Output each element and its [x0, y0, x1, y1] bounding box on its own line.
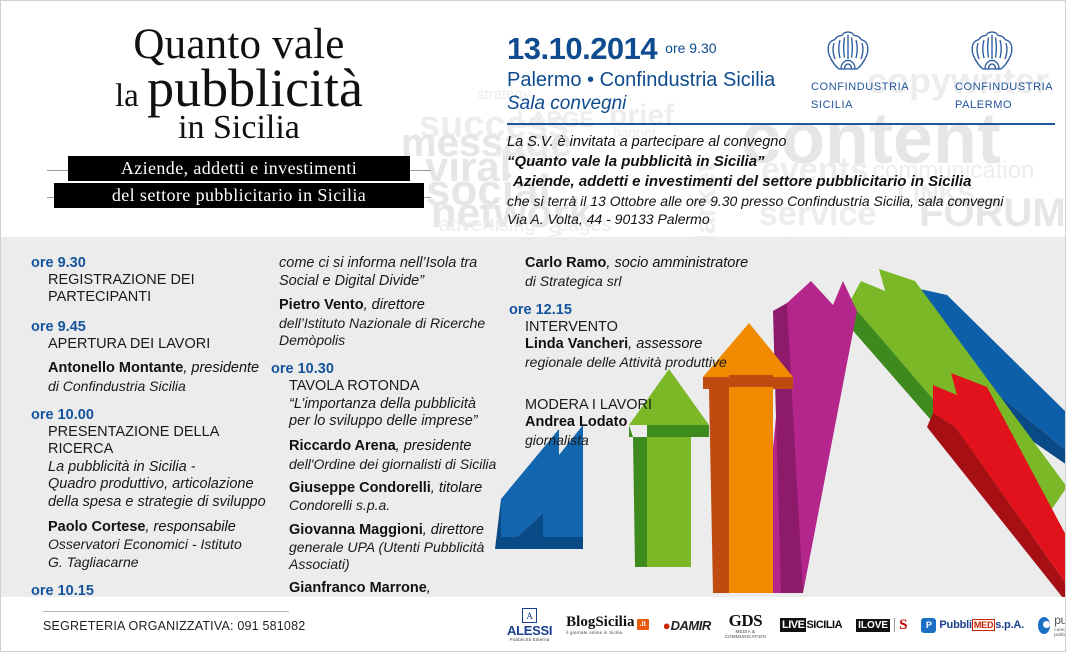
invitation-line-1: La S.V. è invitata a partecipare al conv…: [507, 133, 1055, 152]
program-column-1: ore 9.30 REGISTRAZIONE DEI PARTECIPANTI …: [31, 255, 271, 652]
time-slot: ore 9.45: [31, 319, 271, 335]
speaker-entry: Antonello Montante, presidente: [48, 360, 271, 378]
logo-confindustria-palermo: CONFINDUSTRIA PALERMO: [955, 29, 1051, 113]
program-caps: TAVOLA ROTONDA: [289, 378, 501, 395]
logo-name: CONFINDUSTRIA: [955, 81, 1051, 95]
program-italic: della spesa e strategie di sviluppo: [48, 494, 271, 512]
confindustria-eagle-icon: [955, 29, 1051, 77]
speaker-name: Paolo Cortese: [48, 519, 146, 535]
poster-header: Quanto vale la pubblicità in Sicilia Azi…: [1, 1, 1066, 237]
event-date-block: 13.10.2014ore 9.30 Palermo • Confindustr…: [507, 31, 775, 115]
speaker-entry: Riccardo Arena, presidente: [289, 438, 501, 456]
time-slot: ore 9.30: [31, 255, 271, 271]
program-caps: PARTECIPANTI: [48, 289, 271, 306]
sponsor-tagline: comunicazione in pubblicità: [1054, 627, 1066, 637]
speaker-affiliation: Demòpolis: [279, 332, 501, 349]
moderator-name: Andrea Lodato: [525, 414, 759, 432]
speaker-affiliation: G. Tagliacarne: [48, 554, 271, 571]
logo-name: CONFINDUSTRIA: [811, 81, 907, 95]
program-italic: Social e Digital Divide”: [279, 273, 501, 291]
invitation-line-5: Via A. Volta, 44 - 90133 Palermo: [507, 210, 1055, 228]
logo-sub: SICILIA: [811, 99, 907, 113]
speaker-entry: Carlo Ramo, socio amministratore: [525, 255, 759, 273]
invitation-line-3: Aziende, addetti e investimenti del sett…: [507, 172, 1055, 192]
title-line-2-small: la: [115, 78, 139, 114]
event-date: 13.10.2014: [507, 31, 657, 67]
speaker-affiliation: Condorelli s.p.a.: [289, 497, 501, 514]
program-italic: per lo sviluppo delle imprese”: [289, 413, 501, 431]
speaker-name: Antonello Montante: [48, 360, 183, 376]
subtitle-banner-block: Aziende, addetti e investimenti del sett…: [29, 156, 449, 208]
event-place: Palermo • Confindustria Sicilia: [507, 69, 775, 92]
sponsor-logo-gds[interactable]: GDS MEDIA & COMMUNICATION: [725, 608, 766, 642]
sponsor-logo-alessi[interactable]: A ALESSI Pubblicità Esterna: [507, 608, 552, 642]
sponsor-tagline: il giornale online in Sicilia: [566, 630, 649, 635]
speaker-affiliation: dell'Ordine dei giornalisti di Sicilia: [289, 456, 501, 473]
program-caps: REGISTRAZIONE DEI: [48, 272, 271, 289]
speaker-role: , presidente: [183, 360, 259, 376]
speaker-name: Linda Vancheri: [525, 336, 628, 352]
confindustria-eagle-icon: [811, 29, 907, 77]
invitation-block: La S.V. è invitata a partecipare al conv…: [507, 133, 1055, 229]
program-italic: come ci si informa nell’Isola tra: [279, 255, 501, 273]
program-italic: Quadro produttivo, articolazione: [48, 476, 271, 494]
speaker-affiliation: regionale delle Attività produttive: [525, 354, 759, 371]
sponsor-name: DAMIR: [671, 618, 711, 633]
pubblimed-mark-icon: P: [921, 618, 936, 633]
time-slot: ore 10.00: [31, 407, 271, 423]
program-caps: MODERA I LAVORI: [525, 397, 759, 414]
title-line-2: la pubblicità: [29, 61, 449, 115]
sponsor-name: ALESSI: [507, 624, 552, 637]
sponsor-logo-blogsicilia[interactable]: BlogSicilia.it il giornale online in Sic…: [566, 608, 649, 642]
sponsor-logo-ilovesicilia[interactable]: ILOVE S: [856, 608, 907, 642]
logo-confindustria-sicilia: CONFINDUSTRIA SICILIA: [811, 29, 907, 113]
speaker-role: , assessore: [628, 336, 702, 352]
speaker-affiliation: generale UPA (Utenti Pubblicità: [289, 539, 501, 556]
sponsor-logo-publipiu[interactable]: publipiù comunicazione in pubblicità: [1038, 608, 1066, 642]
speaker-name: Carlo Ramo: [525, 255, 606, 271]
sponsor-logo-strip: A ALESSI Pubblicità Esterna BlogSicilia.…: [507, 605, 1057, 645]
moderator-role: giornalista: [525, 432, 759, 449]
sponsor-name-part-1: Pubbli: [939, 619, 971, 631]
speaker-affiliation: di Confindustria Sicilia: [48, 378, 271, 395]
program-column-2: come ci si informa nell’Isola tra Social…: [279, 255, 501, 650]
sponsor-tagline: Pubblicità Esterna: [507, 637, 552, 642]
alessi-mark-icon: A: [522, 608, 537, 623]
speaker-name: Riccardo Arena: [289, 438, 396, 454]
speaker-entry: Giovanna Maggioni, direttore: [289, 522, 501, 540]
spacer: [525, 371, 759, 397]
main-title-block: Quanto vale la pubblicità in Sicilia Azi…: [29, 23, 449, 208]
invitation-line-4: che si terrà il 13 Ottobre alle ore 9.30…: [507, 192, 1055, 210]
event-time: ore 9.30: [665, 40, 716, 56]
program-caps: APERTURA DEI LAVORI: [48, 336, 271, 353]
sponsor-name: ILOVE: [856, 619, 890, 632]
sponsor-domain-tag: .it: [637, 619, 649, 630]
footer-divider: [43, 611, 289, 612]
speaker-role: , titolare: [431, 480, 483, 496]
sponsor-logo-pubblimed[interactable]: P PubbliMEDs.p.A.: [921, 608, 1024, 642]
speaker-affiliation: di Strategica srl: [525, 273, 759, 290]
sponsor-name-part-2: MED: [972, 619, 995, 631]
divider-icon: [894, 618, 895, 632]
subtitle-banner-2: del settore pubblicitario in Sicilia: [54, 183, 424, 208]
speaker-role: , socio amministratore: [606, 255, 748, 271]
program-body: ore 9.30 REGISTRAZIONE DEI PARTECIPANTI …: [1, 237, 1066, 652]
header-divider: [507, 123, 1055, 125]
program-italic: La pubblicità in Sicilia -: [48, 459, 271, 477]
poster-footer: SEGRETERIA ORGANIZZATIVA: 091 581082 A A…: [1, 597, 1066, 652]
sponsor-name-2: Sicilia: [595, 615, 634, 630]
sponsor-logo-damir[interactable]: ●DAMIR: [663, 608, 711, 642]
sponsor-name-part-3: s.p.A.: [995, 619, 1024, 631]
secretariat-info: SEGRETERIA ORGANIZZATIVA: 091 581082: [43, 619, 305, 633]
damir-drop-icon: ●: [663, 618, 671, 633]
speaker-role: , direttore: [423, 522, 484, 538]
event-hall: Sala convegni: [507, 93, 775, 115]
sponsor-name: PubbliMEDs.p.A.: [939, 619, 1024, 631]
program-caps: INTERVENTO: [525, 319, 759, 336]
sponsor-name: GDS: [725, 612, 766, 629]
sponsor-name: publipiù: [1054, 613, 1066, 627]
sponsor-name: LIVE: [780, 618, 806, 632]
speaker-affiliation: Associati): [289, 556, 501, 573]
time-slot: ore 12.15: [509, 302, 759, 318]
sponsor-logo-livesicilia[interactable]: LIVESICILIA: [780, 608, 842, 642]
time-slot: ore 10.30: [271, 361, 501, 377]
sponsor-name: Blog: [566, 615, 595, 630]
speaker-role: , presidente: [396, 438, 472, 454]
speaker-name: Giovanna Maggioni: [289, 522, 423, 538]
sponsor-name-2: S: [899, 617, 907, 634]
invitation-line-2: “Quanto vale la pubblicità in Sicilia”: [507, 152, 1055, 172]
speaker-entry: Pietro Vento, direttore: [279, 297, 501, 315]
speaker-affiliation: Osservatori Economici - Istituto: [48, 536, 271, 553]
program-caps: PRESENTAZIONE DELLA RICERCA: [48, 424, 271, 459]
speaker-name: Giuseppe Condorelli: [289, 480, 431, 496]
publipiu-mark-icon: [1038, 617, 1050, 634]
speaker-entry: Linda Vancheri, assessore: [525, 336, 759, 354]
speaker-affiliation: dell’Istituto Nazionale di Ricerche: [279, 315, 501, 332]
speaker-name: Pietro Vento: [279, 297, 364, 313]
program-italic: “L’importanza della pubblicità: [289, 396, 501, 414]
logo-sub: PALERMO: [955, 99, 1051, 113]
program-column-3: Carlo Ramo, socio amministratore di Stra…: [509, 255, 759, 449]
speaker-role: , direttore: [364, 297, 425, 313]
speaker-entry: Paolo Cortese, responsabile: [48, 519, 271, 537]
poster-root: success message viral social network adv…: [0, 0, 1066, 652]
speaker-name: Gianfranco Marrone: [289, 580, 427, 596]
speaker-role: , responsabile: [146, 519, 236, 535]
speaker-entry: Giuseppe Condorelli, titolare: [289, 480, 501, 498]
sponsor-name-2: SICILIA: [806, 619, 842, 631]
subtitle-banner-1: Aziende, addetti e investimenti: [68, 156, 410, 181]
title-line-3: in Sicilia: [29, 111, 449, 145]
sponsor-tagline: MEDIA & COMMUNICATION: [725, 629, 766, 639]
program-columns: ore 9.30 REGISTRAZIONE DEI PARTECIPANTI …: [1, 237, 1066, 597]
organizer-logos: CONFINDUSTRIA SICILIA: [811, 29, 1051, 113]
